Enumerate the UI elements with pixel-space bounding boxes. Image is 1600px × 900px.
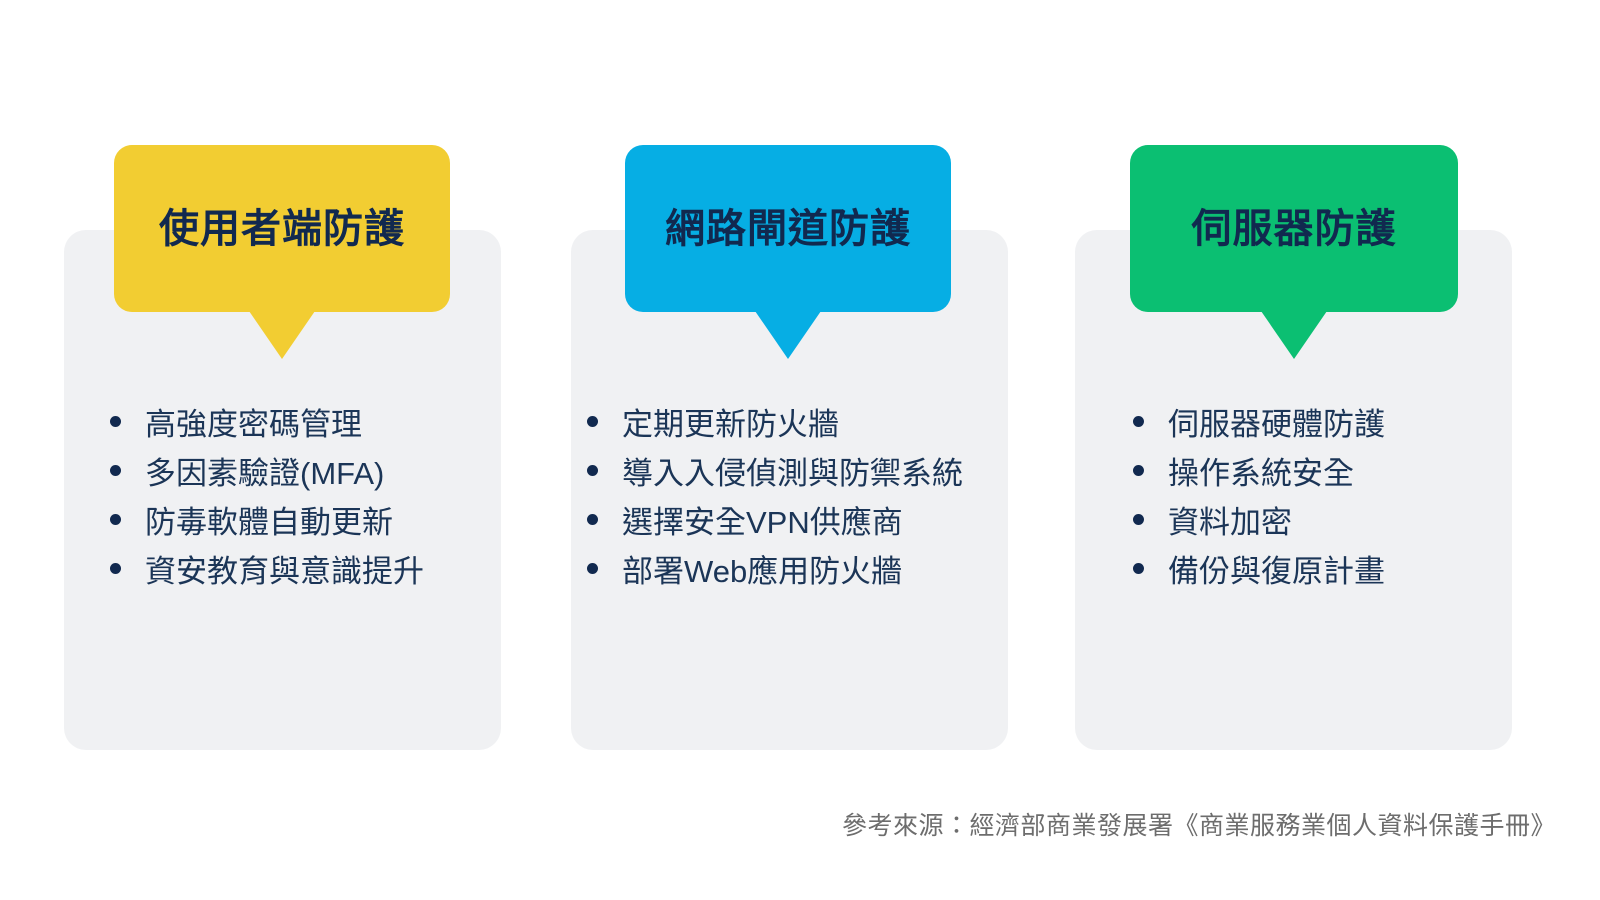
bullet-dot-icon <box>587 465 598 476</box>
list-item-label: 操作系統安全 <box>1168 449 1354 498</box>
column-header-bubble-wrap: 使用者端防護 <box>114 145 450 312</box>
list-item: 伺服器硬體防護 <box>1133 400 1513 449</box>
column-header-bubble: 網路閘道防護 <box>625 145 951 312</box>
bullet-dot-icon <box>1133 416 1144 427</box>
bullet-dot-icon <box>110 416 121 427</box>
columns-container: 使用者端防護 高強度密碼管理 多因素驗證(MFA) 防毒軟體自動更新 <box>0 0 1600 790</box>
protection-column-user-endpoint: 使用者端防護 高強度密碼管理 多因素驗證(MFA) 防毒軟體自動更新 <box>64 0 501 790</box>
list-item: 多因素驗證(MFA) <box>110 449 500 498</box>
column-title: 使用者端防護 <box>159 209 405 249</box>
bullet-dot-icon <box>587 563 598 574</box>
list-item: 資安教育與意識提升 <box>110 547 500 596</box>
list-item-label: 導入入侵偵測與防禦系統 <box>622 449 963 498</box>
list-item: 定期更新防火牆 <box>587 400 1007 449</box>
bullet-dot-icon <box>1133 465 1144 476</box>
column-bullet-list: 高強度密碼管理 多因素驗證(MFA) 防毒軟體自動更新 資安教育與意識提升 <box>110 400 500 596</box>
list-item-label: 備份與復原計畫 <box>1168 547 1385 596</box>
infographic-root: 使用者端防護 高強度密碼管理 多因素驗證(MFA) 防毒軟體自動更新 <box>0 0 1600 900</box>
list-item: 備份與復原計畫 <box>1133 547 1513 596</box>
column-title: 伺服器防護 <box>1192 209 1397 249</box>
list-item: 資料加密 <box>1133 498 1513 547</box>
column-header-bubble-wrap: 伺服器防護 <box>1130 145 1458 312</box>
list-item: 防毒軟體自動更新 <box>110 498 500 547</box>
bullet-dot-icon <box>110 465 121 476</box>
bullet-dot-icon <box>110 514 121 525</box>
column-bullet-list: 定期更新防火牆 導入入侵偵測與防禦系統 選擇安全VPN供應商 部署Web應用防火… <box>587 400 1007 596</box>
bullet-dot-icon <box>1133 514 1144 525</box>
list-item-label: 伺服器硬體防護 <box>1168 400 1385 449</box>
list-item-label: 選擇安全VPN供應商 <box>622 498 903 547</box>
column-header-bubble-wrap: 網路閘道防護 <box>625 145 951 312</box>
list-item: 部署Web應用防火牆 <box>587 547 1007 596</box>
protection-column-server: 伺服器防護 伺服器硬體防護 操作系統安全 資料加密 <box>1075 0 1512 790</box>
column-bullet-list: 伺服器硬體防護 操作系統安全 資料加密 備份與復原計畫 <box>1133 400 1513 596</box>
column-header-bubble: 使用者端防護 <box>114 145 450 312</box>
protection-column-network-gateway: 網路閘道防護 定期更新防火牆 導入入侵偵測與防禦系統 選擇安全VPN供應商 <box>571 0 1008 790</box>
list-item: 操作系統安全 <box>1133 449 1513 498</box>
list-item-label: 部署Web應用防火牆 <box>622 547 902 596</box>
list-item-label: 資安教育與意識提升 <box>145 547 424 596</box>
speech-bubble-tail-icon <box>249 311 315 359</box>
list-item-label: 高強度密碼管理 <box>145 400 362 449</box>
bullet-dot-icon <box>587 514 598 525</box>
bullet-dot-icon <box>1133 563 1144 574</box>
bullet-dot-icon <box>110 563 121 574</box>
source-attribution: 參考來源：經濟部商業發展署《商業服務業個人資料保護手冊》 <box>842 806 1556 842</box>
list-item-label: 定期更新防火牆 <box>622 400 839 449</box>
list-item-label: 資料加密 <box>1168 498 1292 547</box>
bullet-dot-icon <box>587 416 598 427</box>
column-header-bubble: 伺服器防護 <box>1130 145 1458 312</box>
list-item: 高強度密碼管理 <box>110 400 500 449</box>
column-title: 網路閘道防護 <box>665 209 911 249</box>
speech-bubble-tail-icon <box>1261 311 1327 359</box>
speech-bubble-tail-icon <box>755 311 821 359</box>
list-item: 選擇安全VPN供應商 <box>587 498 1007 547</box>
list-item-label: 防毒軟體自動更新 <box>145 498 393 547</box>
list-item: 導入入侵偵測與防禦系統 <box>587 449 1007 498</box>
list-item-label: 多因素驗證(MFA) <box>145 449 384 498</box>
